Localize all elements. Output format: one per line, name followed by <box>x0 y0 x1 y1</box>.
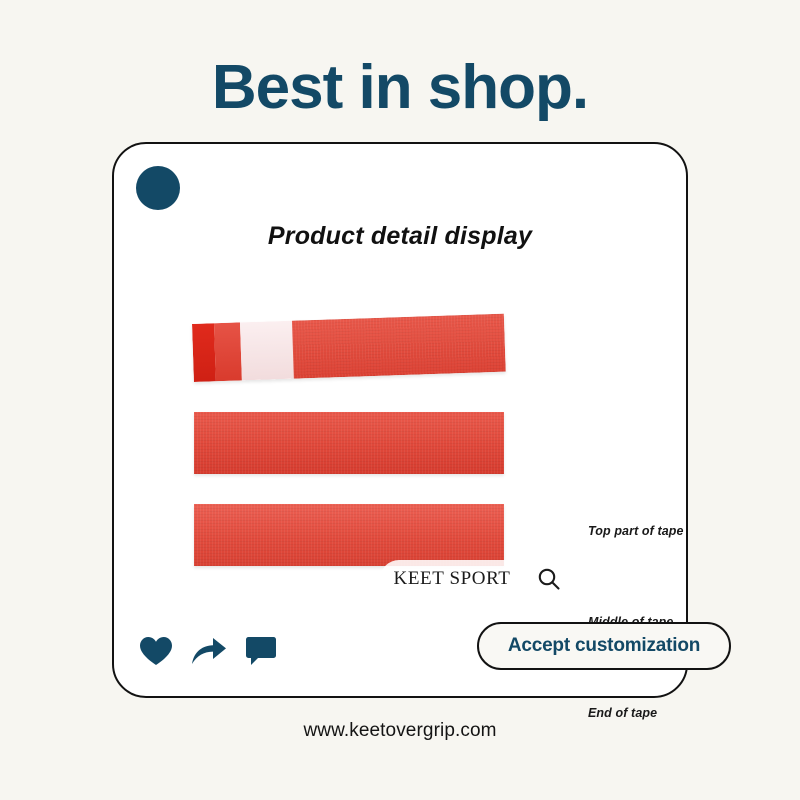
search-icon <box>536 566 562 592</box>
share-arrow-icon[interactable] <box>191 636 227 666</box>
product-photo: KEET SPORT Top part of tape Middle of ta… <box>192 312 612 592</box>
product-card: Product detail display KEET SPORT Top pa… <box>112 142 688 698</box>
tape-segment-white-liner <box>240 321 294 381</box>
heart-icon[interactable] <box>139 636 173 666</box>
tape-segment-red-b <box>292 314 506 379</box>
tape-strip-top <box>192 314 506 382</box>
card-heading: Product detail display <box>114 222 686 251</box>
social-actions <box>139 636 277 666</box>
footer-website-url: www.keetovergrip.com <box>0 720 800 742</box>
tape-segment-dark-red-tip <box>192 323 216 382</box>
tape-strip-middle <box>194 412 504 474</box>
page-title: Best in shop. <box>0 55 800 120</box>
comment-bubble-icon[interactable] <box>245 636 277 666</box>
navy-dot-icon <box>136 166 180 210</box>
label-end-of-tape: End of tape <box>588 706 657 720</box>
tape-segment-red-a <box>214 322 242 381</box>
watermark-brand-label: KEET SPORT <box>394 568 511 590</box>
label-top-part-of-tape: Top part of tape <box>588 524 684 538</box>
tape-strip-end <box>194 504 504 566</box>
watermark-search-bar: KEET SPORT <box>380 560 576 598</box>
accept-customization-button[interactable]: Accept customization <box>477 622 731 670</box>
accept-customization-label: Accept customization <box>508 635 700 657</box>
